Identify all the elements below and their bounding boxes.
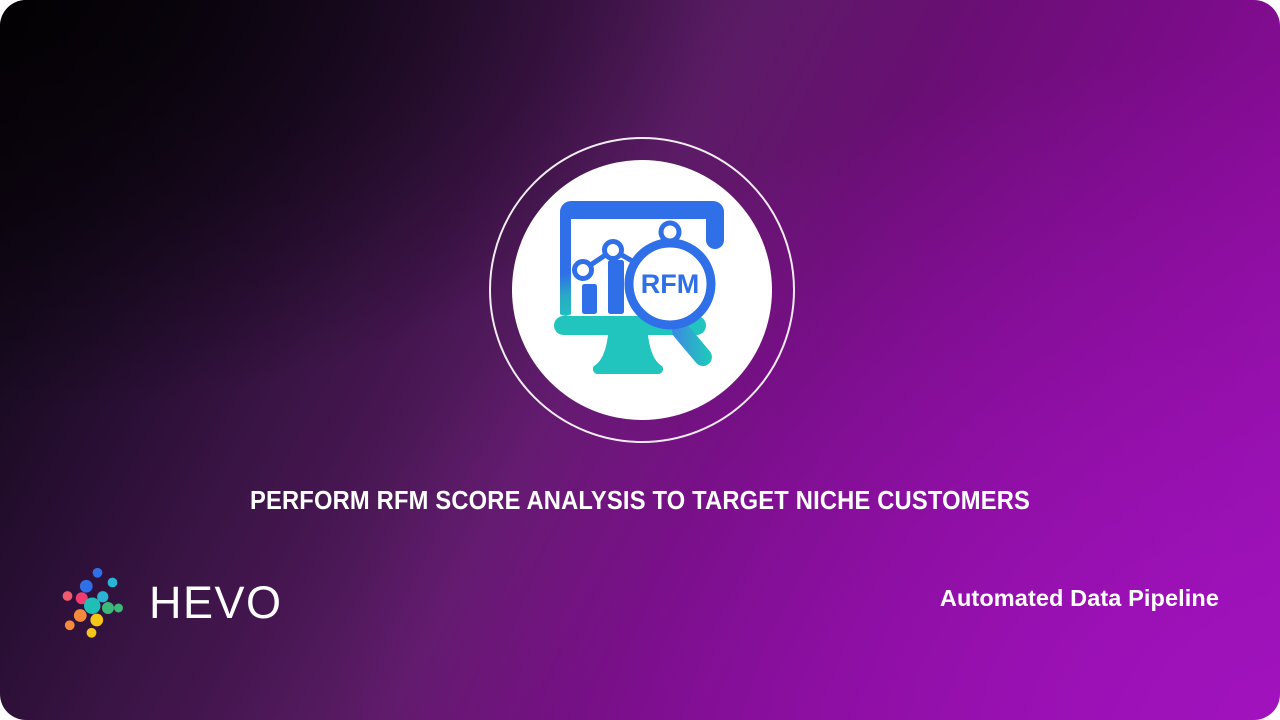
logo-dot-11 — [90, 614, 103, 627]
monitor-stand — [593, 335, 663, 374]
logo-dots — [63, 568, 123, 638]
hevo-wordmark: HEVO — [149, 580, 283, 625]
logo-dot-3 — [97, 591, 108, 602]
logo-dot-2 — [108, 578, 118, 588]
logo-dot-8 — [114, 604, 123, 613]
emblem: RFM — [489, 137, 795, 443]
rfm-lens-label: RFM — [641, 269, 699, 299]
tagline: Automated Data Pipeline — [940, 585, 1219, 612]
promo-banner: RFM PERFORM RFM SCORE ANALYSIS TO TARGET… — [0, 0, 1280, 720]
logo-dot-1 — [80, 580, 93, 593]
logo-dot-9 — [74, 609, 87, 622]
logo-dot-12 — [87, 628, 97, 638]
page-title: PERFORM RFM SCORE ANALYSIS TO TARGET NIC… — [45, 487, 1235, 516]
logo-dot-0 — [93, 568, 103, 578]
hevo-dot-cluster-logo — [57, 563, 135, 641]
hevo-logo: HEVO — [57, 560, 267, 644]
logo-dot-7 — [102, 602, 114, 614]
logo-dot-4 — [63, 591, 73, 601]
rfm-analytics-monitor-magnifier-icon: RFM — [546, 194, 738, 386]
logo-dot-6 — [84, 598, 101, 615]
logo-dot-10 — [65, 620, 75, 630]
